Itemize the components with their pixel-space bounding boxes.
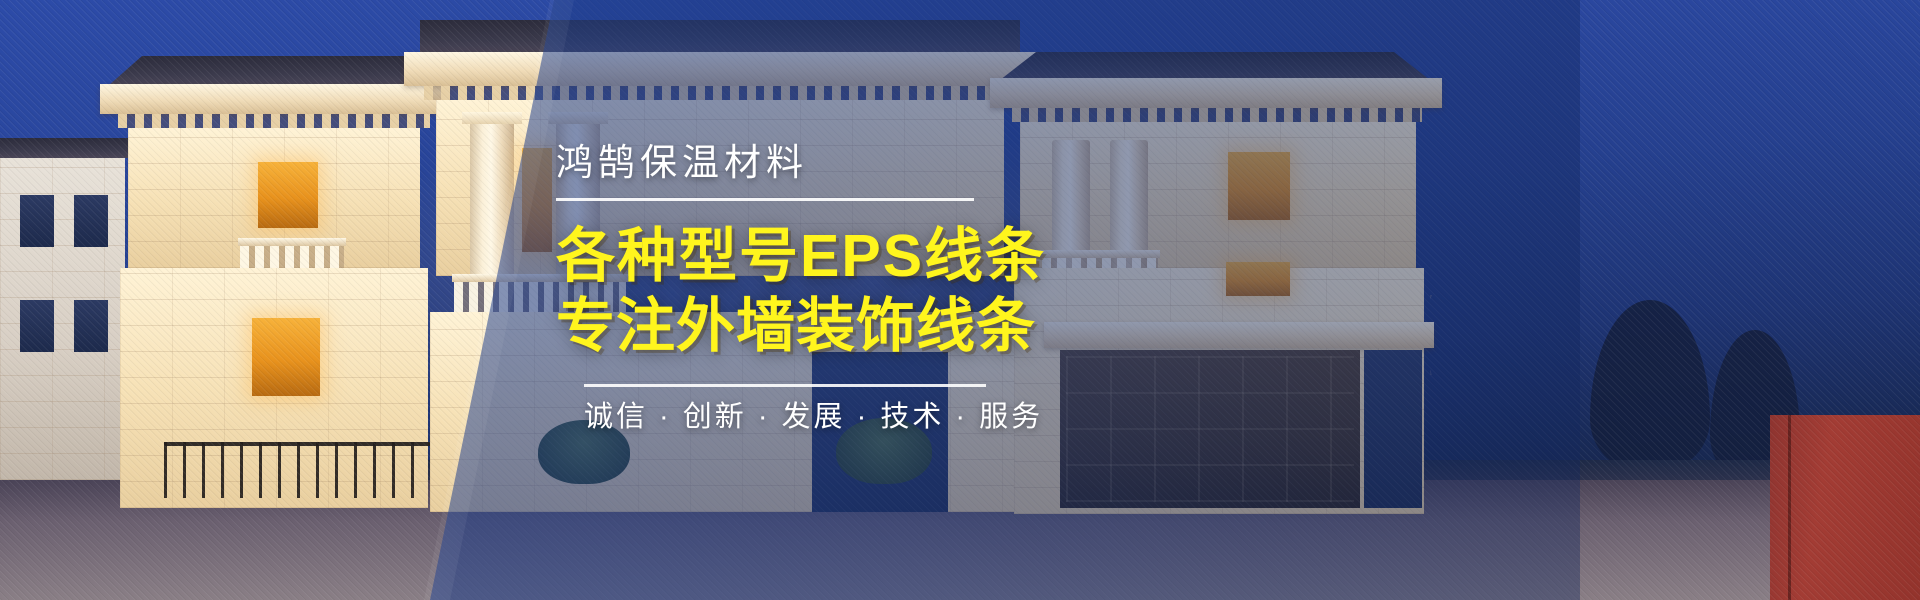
headline-line-1: 各种型号EPS线条 xyxy=(556,222,1316,292)
dentil-band xyxy=(118,114,430,128)
divider-top xyxy=(556,198,974,201)
villa-left-cornice xyxy=(100,84,448,114)
tagline: 诚信 · 创新 · 发展 · 技术 · 服务 xyxy=(584,403,1316,432)
hero-banner: 鸿鹄保温材料 各种型号EPS线条 专注外墙装饰线条 诚信 · 创新 · 发展 ·… xyxy=(0,0,1920,600)
column-capital xyxy=(462,112,522,124)
brand-name: 鸿鹄保温材料 xyxy=(556,144,1316,181)
iron-railing xyxy=(164,442,454,498)
balcony-rail-top xyxy=(238,238,346,246)
neighbour-window xyxy=(20,195,54,247)
divider-bottom xyxy=(584,384,986,387)
neighbour-window xyxy=(20,300,54,352)
villa-left-roof xyxy=(108,56,438,86)
villa-window-lit xyxy=(252,318,320,396)
headline-line-2: 专注外墙装饰线条 xyxy=(556,292,1316,362)
left-neighbour-roof xyxy=(0,138,130,158)
villa-window-lit xyxy=(258,162,318,228)
neighbour-window xyxy=(74,300,108,352)
banner-copy: 鸿鹄保温材料 各种型号EPS线条 专注外墙装饰线条 诚信 · 创新 · 发展 ·… xyxy=(556,0,1316,600)
neighbour-window xyxy=(74,195,108,247)
headline: 各种型号EPS线条 专注外墙装饰线条 xyxy=(556,222,1316,361)
red-wall-panel xyxy=(1770,415,1920,600)
